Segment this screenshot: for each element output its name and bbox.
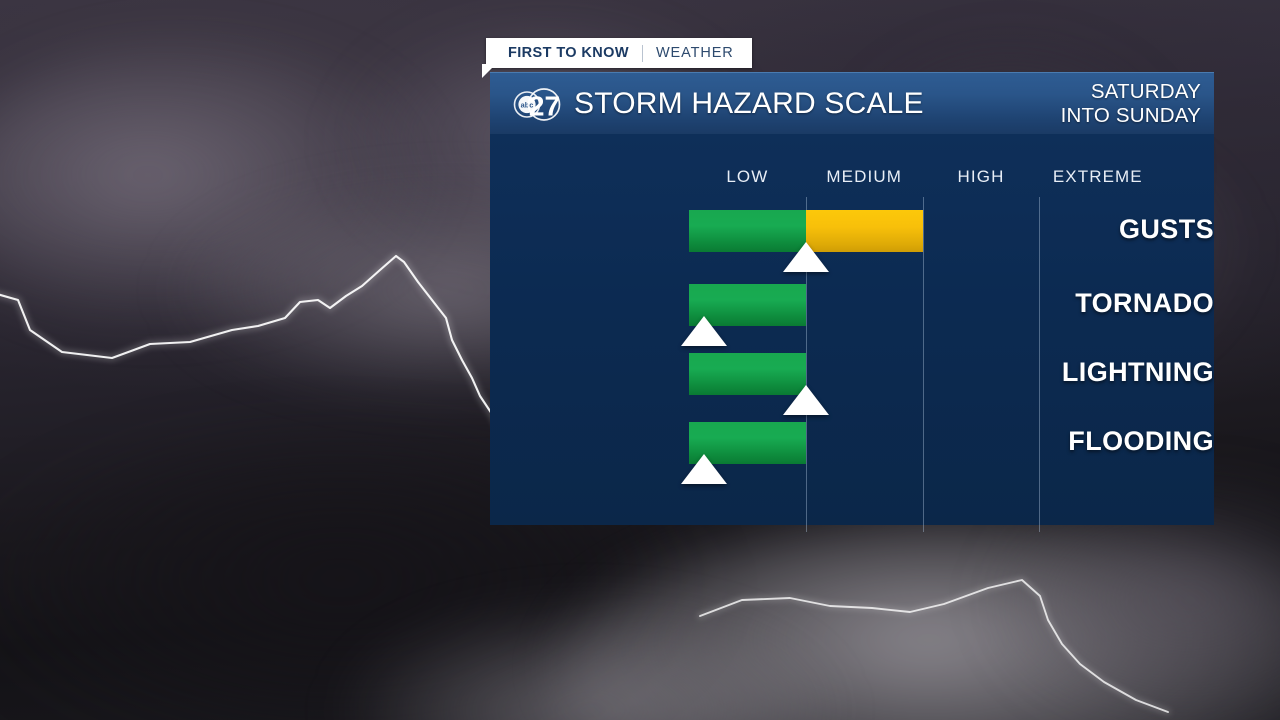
storm-hazard-scale-card: FIRST TO KNOW WEATHER abc 27 STORM HAZAR… (490, 72, 1214, 525)
page-title: STORM HAZARD SCALE (574, 87, 924, 121)
svg-text:27: 27 (529, 90, 560, 121)
card-header: abc 27 STORM HAZARD SCALE SATURDAY INTO … (490, 72, 1214, 135)
hazard-row: LIGHTNING (490, 353, 1214, 395)
column-header-high: HIGH (958, 167, 1005, 187)
column-header-extreme: EXTREME (1053, 167, 1143, 187)
column-header-low: LOW (726, 167, 768, 187)
timeframe-line-2: INTO SUNDAY (1061, 104, 1201, 127)
hazard-row: GUSTS (490, 210, 1214, 252)
hazard-marker-tornado (681, 316, 727, 346)
first-to-know-tab: FIRST TO KNOW WEATHER (486, 38, 752, 68)
timeframe-line-1: SATURDAY (1091, 80, 1201, 103)
hazard-row: TORNADO (490, 284, 1214, 326)
scale-axis: LOWMEDIUMHIGHEXTREME (490, 134, 1214, 525)
hazard-marker-lightning (783, 385, 829, 415)
tab-divider (642, 45, 643, 62)
hazard-label-lightning: LIGHTNING (1025, 357, 1214, 388)
hazard-marker-flooding (681, 454, 727, 484)
hazard-label-flooding: FLOODING (1025, 426, 1214, 457)
timeframe-label: SATURDAY INTO SUNDAY (1061, 80, 1201, 128)
hazard-marker-gusts (783, 242, 829, 272)
abc27-logo: abc 27 (511, 88, 567, 121)
tab-section-label: WEATHER (656, 45, 734, 61)
hazard-label-tornado: TORNADO (1025, 288, 1214, 319)
hazard-panel: LOWMEDIUMHIGHEXTREME GUSTSTORNADOLIGHTNI… (490, 134, 1214, 525)
hazard-row: FLOODING (490, 422, 1214, 464)
tab-brand-label: FIRST TO KNOW (508, 45, 629, 61)
column-header-medium: MEDIUM (826, 167, 902, 187)
hazard-label-gusts: GUSTS (1025, 214, 1214, 245)
